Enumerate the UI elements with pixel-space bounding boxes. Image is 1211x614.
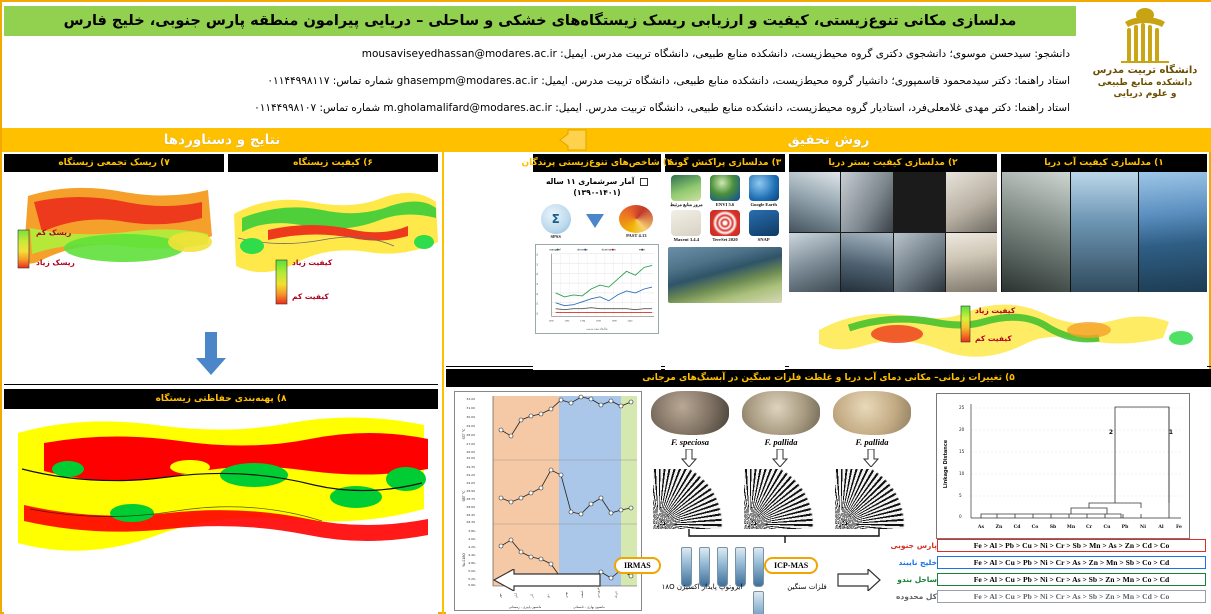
panel-4-heading: آمار سرشماری ۱۱ ساله (۱۳۹۰-۱۴۰۱) xyxy=(533,172,661,198)
svg-text:Mn: Mn xyxy=(1067,524,1076,530)
risk-legend-high: ریسک زیاد xyxy=(36,258,75,267)
divider-results-horizontal xyxy=(4,384,438,385)
svg-text:Sb: Sb xyxy=(1050,524,1057,530)
svg-text:Cr: Cr xyxy=(1086,524,1093,530)
panel3-caption: مرور منابع مرتبط xyxy=(670,202,703,208)
sample-tube-4 xyxy=(699,547,710,587)
svg-text:29.00: 29.00 xyxy=(466,424,475,428)
habitat-quality-legend-low: کیفیت کم xyxy=(292,292,329,301)
software-label-1: ENVI 5.6 xyxy=(716,202,734,207)
coral-down-arrow-icon-0 xyxy=(679,449,699,467)
section-4-label: ۴) شاخص‌های تنوع‌زیستی پرندگان xyxy=(521,158,672,168)
section-header-2: ۲) مدلسازی کیفیت بستر دریا xyxy=(789,154,997,172)
panel-4-logos: PAST 4.13 Σ SPSS xyxy=(533,200,661,242)
lab-photo-6 xyxy=(894,233,945,293)
section-header-4: ۴) شاخص‌های تنوع‌زیستی پرندگان xyxy=(533,154,661,172)
spss-software[interactable]: Σ SPSS xyxy=(541,204,571,239)
habitat-quality-map-svg xyxy=(228,172,438,367)
spss-software-icon: Σ xyxy=(541,204,571,234)
section-1-label: ۱) مدلسازی کیفیت آب دریا xyxy=(1044,158,1164,168)
left-flow-arrow-icon xyxy=(492,569,602,591)
bird-chart-xlabel: سال‌های مورد بررسی xyxy=(586,328,607,331)
svg-text:1: 1 xyxy=(1169,429,1173,436)
section-5-label: ۵) تغییرات زمانی– مکانی دمای آب دریا و غ… xyxy=(642,373,1014,383)
sample-tube-6 xyxy=(753,591,764,614)
section-3-label: ۳) مدلسازی پراکنش گونه xyxy=(669,158,782,168)
software-envi[interactable]: ENVI 5.6 xyxy=(707,175,744,208)
heavy-metal-dendrogram: 2520 1510 50 Linkage Distance AsZnCd CoS… xyxy=(936,393,1190,539)
table-row: Fe > Al > Cu > Pb > Ni > Cr > As > Sb > … xyxy=(886,571,1206,587)
svg-text:29.05: 29.05 xyxy=(466,481,475,485)
svg-text:SST °C: SST °C xyxy=(462,428,466,440)
svg-text:30.00: 30.00 xyxy=(466,415,475,419)
svg-text:32.00: 32.00 xyxy=(466,397,475,401)
software-label-4: TerrSet 2020 xyxy=(712,237,737,242)
seabed-legend-low-label: کیفیت کم xyxy=(975,334,1012,343)
svg-text:28.75: 28.75 xyxy=(466,497,475,501)
logo-line-3: و علوم دریایی xyxy=(1093,89,1198,100)
svg-text:-4.20: -4.20 xyxy=(468,545,476,549)
svg-text:28.30: 28.30 xyxy=(466,520,475,524)
svg-text:shannon: shannon xyxy=(577,248,588,252)
svg-text:28.00: 28.00 xyxy=(466,433,475,437)
maxent-icon xyxy=(671,210,701,236)
past-label: PAST 4.13 xyxy=(619,233,653,238)
software-label-5: Maxent 3.4.4 xyxy=(674,237,699,242)
svg-text:δ18O ‰: δ18O ‰ xyxy=(462,553,466,567)
poster-root: مدلسازی مکانی تنوع‌زیستی، کیفیت و ارزیاب… xyxy=(0,0,1211,614)
svg-text:0: 0 xyxy=(959,514,962,519)
svg-text:28.45: 28.45 xyxy=(466,513,475,517)
svg-text:1390: 1390 xyxy=(549,321,555,323)
author-block: دانشجو: سیدحسن موسوی؛ دانشجوی دکتری گروه… xyxy=(4,38,1076,124)
cumulative-risk-map-svg xyxy=(4,172,224,367)
field-photo-sampling-3 xyxy=(1001,172,1070,292)
logo-line-2: دانشکده منابع طبیعی xyxy=(1093,78,1198,89)
coral-name-2: F. pallida xyxy=(833,437,911,447)
software-snap[interactable]: SNAP xyxy=(745,210,782,242)
irmas-tag: IRMAS xyxy=(614,557,661,574)
coral-name-1: F. pallida xyxy=(742,437,820,447)
svg-text:SBT °C: SBT °C xyxy=(462,490,466,502)
band-results-label: نتایج و دستاوردها xyxy=(164,132,281,148)
map-thumbnail-icon xyxy=(671,175,701,201)
coral-specimens: F. speciosa F. pallida F. pallida xyxy=(651,391,911,541)
panel-cumulative-risk: ریسک کم ریسک زیاد InVEST Integrated Valu… xyxy=(4,172,224,367)
seq-label-1: خلیج نایبند xyxy=(886,558,937,567)
section-header-5: ۵) تغییرات زمانی– مکانی دمای آب دریا و غ… xyxy=(446,369,1211,387)
svg-text:10: 10 xyxy=(959,471,965,476)
seabed-legend-high-label: کیفیت زیاد xyxy=(975,306,1015,315)
svg-text:Fe: Fe xyxy=(1176,524,1182,530)
panel-species-distribution: Google Earth ENVI 5.6 مرور منابع مرتبط S… xyxy=(665,172,785,370)
checkbox-icon[interactable] xyxy=(640,178,648,186)
author-line-supervisor-2: استاد راهنما: دکتر مهدی غلامعلی‌فرد، است… xyxy=(4,102,1070,114)
section-header-3: ۳) مدلسازی پراکنش گونه xyxy=(665,154,785,172)
svg-text:-4.40: -4.40 xyxy=(468,553,476,557)
svg-text:28.90: 28.90 xyxy=(466,489,475,493)
terrset-icon xyxy=(710,210,740,236)
svg-text:As: As xyxy=(977,524,985,530)
svg-text:Zn: Zn xyxy=(996,524,1003,530)
coral-name-0: F. speciosa xyxy=(651,437,729,447)
software-label-3: SNAP xyxy=(758,237,770,242)
svg-text:Pb: Pb xyxy=(1122,524,1129,530)
past-software[interactable]: PAST 4.13 xyxy=(619,205,653,238)
panel-habitat-quality: کیفیت زیاد کیفیت کم xyxy=(228,172,438,367)
down-arrow-icon xyxy=(586,214,604,228)
species-distribution-map xyxy=(668,247,782,303)
band-results: نتایج و دستاوردها xyxy=(2,128,442,152)
panel-1-photo-grid xyxy=(1001,172,1207,292)
coral-photo-1 xyxy=(742,391,820,435)
right-flow-arrow-icon xyxy=(836,569,882,591)
coral-specimen-1: F. pallida xyxy=(742,391,820,447)
svg-text:مهر: مهر xyxy=(498,593,502,599)
panel-conservation-zoning: اولویت کم حفاظتی اولویت متوسط حفاظتی اول… xyxy=(4,409,438,614)
sample-tube-1 xyxy=(753,547,764,587)
lab-photo-7 xyxy=(841,233,892,293)
seq-value-3: Fe > Al > Cu > Pb > Ni > Cr > As > Sb > … xyxy=(937,590,1206,603)
lab-photo-8 xyxy=(789,233,840,293)
results-flow-arrow-icon xyxy=(194,332,228,376)
flow-arrow-icon xyxy=(558,129,588,151)
coral-xray-0 xyxy=(653,469,725,529)
svg-text:5: 5 xyxy=(959,493,962,498)
metal-sequence-table: Fe > Al > Pb > Cu > Ni > Cr > Sb > Mn > … xyxy=(886,537,1206,605)
svg-text:31.00: 31.00 xyxy=(466,406,475,410)
svg-text:Al: Al xyxy=(1157,524,1164,530)
svg-text:even: even xyxy=(639,249,646,252)
author-line-student: دانشجو: سیدحسن موسوی؛ دانشجوی دکتری گروه… xyxy=(4,48,1070,60)
coral-specimen-2: F. pallida xyxy=(833,391,911,447)
software-google-earth[interactable]: Google Earth xyxy=(745,175,782,208)
risk-legend-low: ریسک کم xyxy=(36,228,71,237)
section-header-8: ۸) پهنه‌بندی حفاظتی زیستگاه xyxy=(4,389,438,409)
google-earth-icon xyxy=(749,175,779,201)
author-line-supervisor-1: استاد راهنما: دکتر سیدمحمود قاسمپوری؛ دا… xyxy=(4,75,1070,87)
past-software-icon xyxy=(619,205,653,233)
panel-seabed-quality-map: کیفیت زیاد کیفیت کم xyxy=(789,294,1207,368)
dendrogram-svg: 2520 1510 50 Linkage Distance AsZnCd CoS… xyxy=(937,394,1189,538)
seq-label-3: کل محدوده xyxy=(886,592,937,601)
section-header-6: ۶) کیفیت زیستگاه xyxy=(228,154,438,172)
software-maxent[interactable]: Maxent 3.4.4 xyxy=(668,210,705,242)
field-photo-sampling-2 xyxy=(1070,172,1139,292)
svg-text:بهمن: بهمن xyxy=(564,592,568,598)
svg-text:-5.60: -5.60 xyxy=(468,583,476,587)
table-row: Fe > Al > Pb > Cu > Ni > Cr > Sb > Mn > … xyxy=(886,537,1206,553)
svg-text:20: 20 xyxy=(959,427,965,432)
svg-text:خرداد: خرداد xyxy=(614,591,618,598)
svg-text:25: 25 xyxy=(959,405,965,410)
svg-text:28.60: 28.60 xyxy=(466,505,475,509)
poster-header: مدلسازی مکانی تنوع‌زیستی، کیفیت و ارزیاب… xyxy=(2,2,1211,128)
lab-photo-3 xyxy=(841,172,892,232)
software-label-0: Google Earth xyxy=(750,202,776,207)
svg-text:-5.20: -5.20 xyxy=(468,577,476,581)
sample-tube-3 xyxy=(717,547,728,587)
coral-photo-2 xyxy=(833,391,911,435)
field-photo-sampling-1 xyxy=(1138,172,1207,292)
seq-label-0: پارس جنوبی xyxy=(886,541,937,550)
band-method-label: روش تحقیق xyxy=(788,132,870,148)
section-header-1: ۱) مدلسازی کیفیت آب دریا xyxy=(1001,154,1207,172)
svg-text:-4.80: -4.80 xyxy=(468,561,476,565)
section-header-7: ۷) ریسک تجمعی زیستگاه xyxy=(4,154,224,172)
svg-text:25.00: 25.00 xyxy=(466,456,475,460)
bird-diversity-chart-svg: margalef shannon dominance even 5.04.54.… xyxy=(536,245,658,333)
coral-photo-0 xyxy=(651,391,729,435)
panel-sea-water-quality xyxy=(1001,172,1207,292)
seq-value-1: Fe > Al > Cu > Pb > Ni > Cr > As > Zn > … xyxy=(937,556,1206,569)
section-2-label: ۲) مدلسازی کیفیت بستر دریا xyxy=(828,158,957,168)
svg-text:1398: 1398 xyxy=(612,321,618,323)
software-terrset[interactable]: TerrSet 2020 xyxy=(707,210,744,242)
seq-value-0: Fe > Al > Pb > Cu > Ni > Cr > Sb > Mn > … xyxy=(937,539,1206,552)
lab-photo-1 xyxy=(946,172,997,232)
panel-bird-diversity: آمار سرشماری ۱۱ ساله (۱۳۹۰-۱۴۰۱) PAST 4.… xyxy=(533,172,661,370)
software-grid: Google Earth ENVI 5.6 مرور منابع مرتبط S… xyxy=(665,172,785,245)
panel-4-heading-line2: (۱۳۹۰-۱۴۰۱) xyxy=(533,188,661,199)
panel-seabed-quality xyxy=(789,172,997,292)
icpmas-tag: ICP-MAS xyxy=(764,557,818,574)
svg-text:29.35: 29.35 xyxy=(466,465,475,469)
svg-text:-5.00: -5.00 xyxy=(468,569,476,573)
panel-2-photo-grid xyxy=(789,172,997,292)
university-logo-text: دانشگاه تربیت مدرس دانشکده منابع طبیعی و… xyxy=(1093,65,1198,100)
section-band: روش تحقیق نتایج و دستاوردها xyxy=(2,128,1211,152)
table-row: Fe > Al > Cu > Pb > Ni > Cr > As > Sb > … xyxy=(886,588,1206,604)
svg-text:15: 15 xyxy=(959,449,965,454)
svg-text:Ni: Ni xyxy=(1140,524,1146,530)
lab-photo-2 xyxy=(894,172,945,232)
svg-text:اسفند: اسفند xyxy=(580,590,584,598)
lab-photo-5 xyxy=(946,233,997,293)
spss-label: SPSS xyxy=(541,234,571,239)
seq-value-2: Fe > Al > Cu > Pb > Ni > Cr > As > Sb > … xyxy=(937,573,1206,586)
reference-map-thumbnail: مرور منابع مرتبط xyxy=(668,175,705,208)
svg-text:2: 2 xyxy=(1109,429,1113,436)
envi-icon xyxy=(710,175,740,201)
coral-down-arrow-icon-1 xyxy=(770,449,790,467)
svg-text:dominance: dominance xyxy=(602,248,617,252)
svg-text:-3.80: -3.80 xyxy=(468,529,476,533)
logo-line-1: دانشگاه تربیت مدرس xyxy=(1093,65,1198,78)
tarbiat-modares-logo-icon xyxy=(1113,6,1177,64)
svg-text:آبان: آبان xyxy=(514,593,518,598)
snap-icon xyxy=(749,210,779,236)
lab-photo-4 xyxy=(789,172,840,232)
metals-note: فلزات سنگین xyxy=(776,583,838,592)
coral-xray-2 xyxy=(835,469,907,529)
svg-text:27.00: 27.00 xyxy=(466,442,475,446)
svg-text:آذر: آذر xyxy=(530,594,534,599)
svg-text:1394: 1394 xyxy=(580,321,586,323)
svg-text:29.20: 29.20 xyxy=(466,473,475,477)
panel-4-heading-line1: آمار سرشماری ۱۱ ساله xyxy=(546,177,634,186)
svg-text:مانسون پاییزی – زمستانی: مانسون پاییزی – زمستانی xyxy=(509,605,542,609)
svg-text:Cd: Cd xyxy=(1014,524,1022,530)
table-row: Fe > Al > Cu > Pb > Ni > Cr > As > Zn > … xyxy=(886,554,1206,570)
conservation-zoning-map-svg xyxy=(4,409,438,614)
coral-bracket-connector xyxy=(661,529,901,543)
seq-label-2: ساحل بندو xyxy=(886,575,937,584)
svg-text:1396: 1396 xyxy=(596,321,602,323)
isotope-note: ایزوتوپ پایدار اکسیژن ۱۸O xyxy=(642,583,762,592)
bird-diversity-chart: margalef shannon dominance even 5.04.54.… xyxy=(535,244,659,334)
svg-text:1392: 1392 xyxy=(564,321,570,323)
habitat-quality-legend-high: کیفیت زیاد xyxy=(292,258,332,267)
university-logo: دانشگاه تربیت مدرس دانشکده منابع طبیعی و… xyxy=(1079,4,1211,126)
section-6-label: ۶) کیفیت زیستگاه xyxy=(293,158,373,168)
section-7-label: ۷) ریسک تجمعی زیستگاه xyxy=(58,158,169,168)
coral-xray-1 xyxy=(744,469,816,529)
coral-down-arrow-icon-2 xyxy=(861,449,881,467)
divider-main-vertical xyxy=(442,152,444,614)
poster-title-bar: مدلسازی مکانی تنوع‌زیستی، کیفیت و ارزیاب… xyxy=(4,6,1076,36)
svg-text:1400: 1400 xyxy=(627,321,633,323)
svg-text:مانسون بهاری – تابستانی: مانسون بهاری – تابستانی xyxy=(573,605,605,609)
svg-text:margalef: margalef xyxy=(549,248,560,252)
page-title: مدلسازی مکانی تنوع‌زیستی، کیفیت و ارزیاب… xyxy=(64,13,1017,29)
sample-tube-2 xyxy=(735,547,746,587)
svg-text:26.00: 26.00 xyxy=(466,450,475,454)
coral-specimen-0: F. speciosa xyxy=(651,391,729,447)
sample-tube-5 xyxy=(681,547,692,587)
svg-text:-4.00: -4.00 xyxy=(468,537,476,541)
section-8-label: ۸) پهنه‌بندی حفاظتی زیستگاه xyxy=(156,394,287,404)
svg-text:Cu: Cu xyxy=(1104,524,1112,530)
svg-text:Linkage Distance: Linkage Distance xyxy=(943,439,949,488)
svg-text:Co: Co xyxy=(1032,524,1039,530)
panel-sst-heavy-metals: 32.0031.0030.00 29.0028.0027.00 26.0025.… xyxy=(446,387,1211,614)
